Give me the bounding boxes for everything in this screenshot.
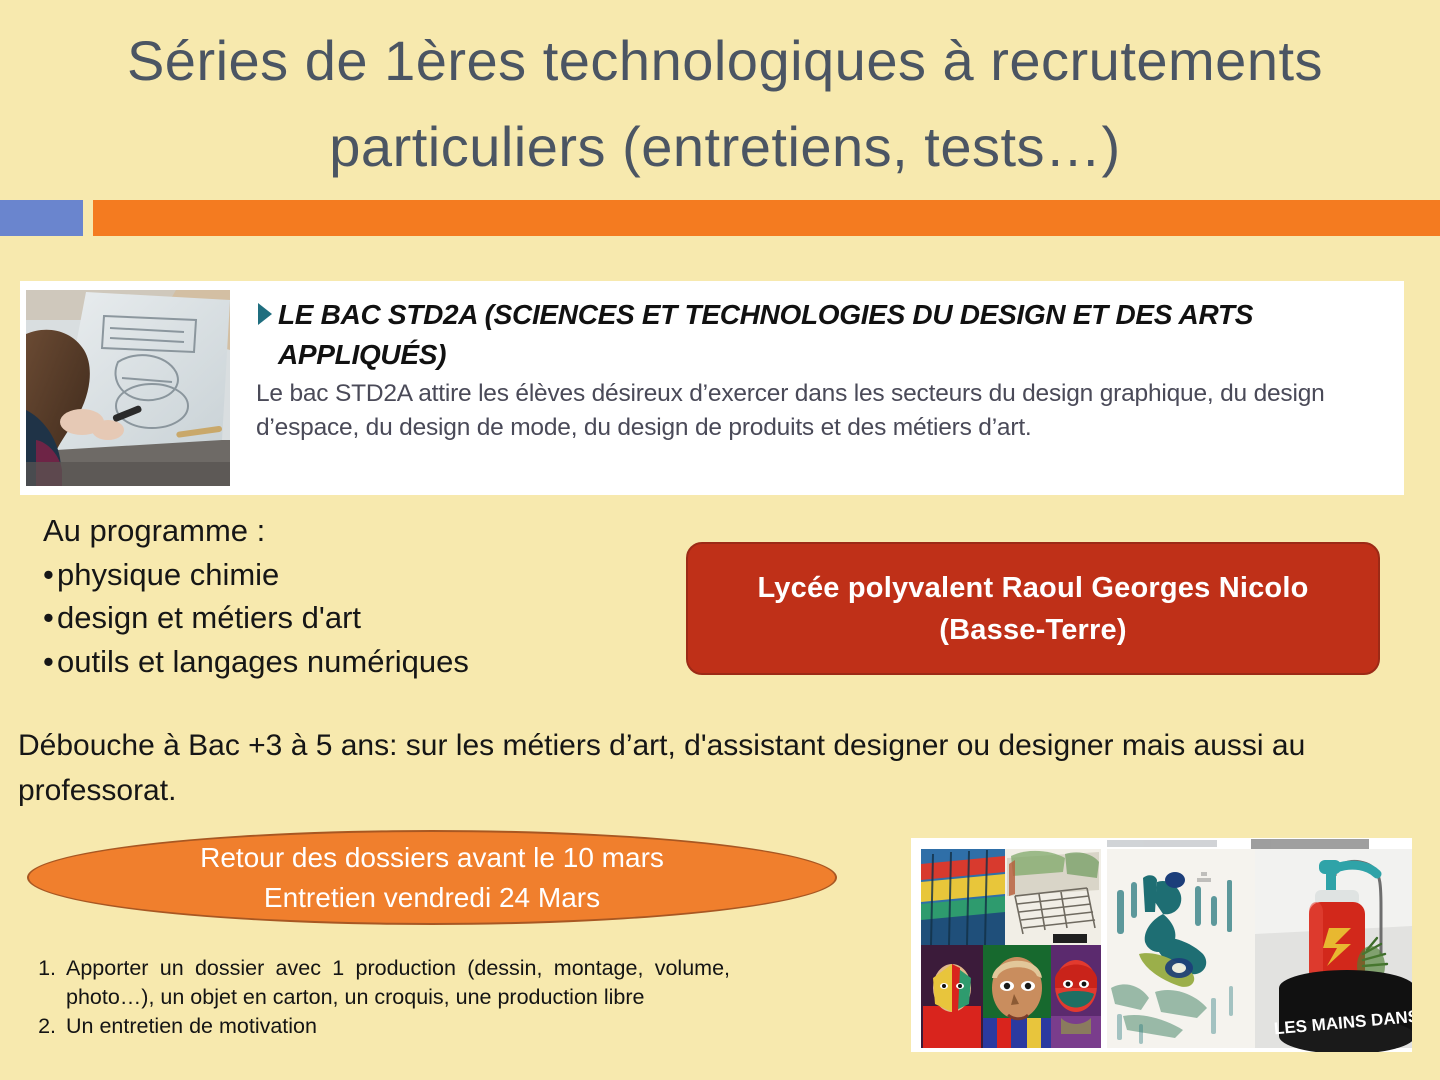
info-card-body: Le bac STD2A attire les élèves désireux … (256, 377, 1392, 445)
requirement-item-label: Apporter un dossier avec 1 production (d… (66, 956, 730, 1009)
list-item: Un entretien de motivation (62, 1012, 730, 1041)
accent-bar-orange (93, 200, 1440, 236)
career-outlook-text: Débouche à Bac +3 à 5 ans: sur les métie… (18, 723, 1338, 813)
deadline-dossier-line: Retour des dossiers avant le 10 mars (200, 838, 664, 878)
deadline-entretien-line: Entretien vendredi 24 Mars (264, 878, 600, 918)
slide-root: Séries de 1ères technologiques à recrute… (0, 0, 1440, 1080)
deadline-callout-ellipse: Retour des dossiers avant le 10 mars Ent… (27, 830, 837, 925)
list-item: outils et langages numériques (43, 640, 663, 684)
programme-item-label: physique chimie (57, 557, 279, 592)
programme-heading: Au programme : (43, 509, 663, 553)
requirements-list: Apporter un dossier avec 1 production (d… (24, 954, 730, 1041)
lycee-name: Lycée polyvalent Raoul Georges Nicolo (757, 567, 1308, 609)
student-drawing-photo (26, 290, 230, 486)
programme-item-label: design et métiers d'art (57, 600, 361, 635)
list-item: design et métiers d'art (43, 596, 663, 640)
requirement-item-label: Un entretien de motivation (66, 1014, 317, 1038)
info-card: LE BAC STD2A (SCIENCES ET TECHNOLOGIES D… (20, 281, 1404, 495)
info-card-heading: LE BAC STD2A (SCIENCES ET TECHNOLOGIES D… (278, 295, 1392, 375)
info-card-text: LE BAC STD2A (SCIENCES ET TECHNOLOGIES D… (256, 295, 1392, 445)
student-artwork-collage: LES MAINS DANS (911, 838, 1412, 1052)
programme-item-label: outils et langages numériques (57, 644, 469, 679)
list-item: physique chimie (43, 553, 663, 597)
requirements-block: Apporter un dossier avec 1 production (d… (24, 954, 730, 1041)
page-title: Séries de 1ères technologiques à recrute… (40, 18, 1410, 190)
lycee-location: (Basse-Terre) (939, 609, 1126, 651)
list-item: Apporter un dossier avec 1 production (d… (62, 954, 730, 1012)
programme-list: physique chimie design et métiers d'art … (43, 553, 663, 684)
lycee-callout-box: Lycée polyvalent Raoul Georges Nicolo (B… (686, 542, 1380, 675)
accent-bar-blue (0, 200, 83, 236)
programme-block: Au programme : physique chimie design et… (43, 509, 663, 683)
